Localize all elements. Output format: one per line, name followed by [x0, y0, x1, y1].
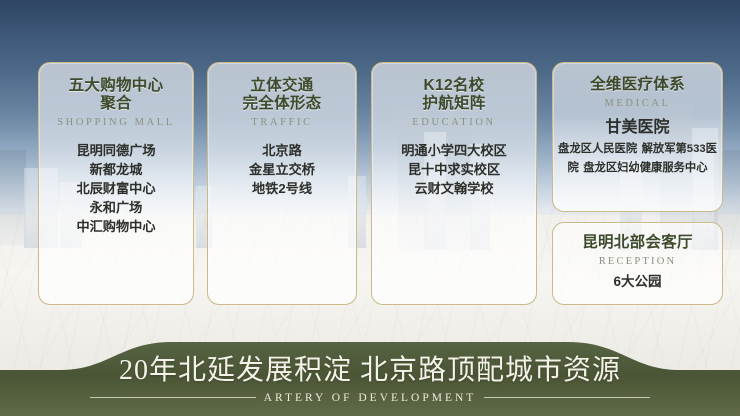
card-subtitle: SHOPPING MALL [39, 117, 193, 128]
card-item-list: 北京路 金星立交桥 地铁2号线 [208, 141, 356, 198]
banner-rule-left [90, 397, 256, 398]
card-reception[interactable]: 昆明北部会客厅 RECEPTION 6大公园 [552, 222, 723, 305]
bottom-banner: 20年北延发展积淀 北京路顶配城市资源 ARTERY OF DEVELOPMEN… [0, 342, 740, 416]
list-item: 盘龙区人民医院 [558, 143, 637, 155]
card-item-list: 明通小学四大校区 昆十中求实校区 云财文翰学校 [372, 141, 536, 198]
list-item: 明通小学四大校区 [372, 141, 536, 160]
card-item-list: 昆明同德广场 新都龙城 北辰财富中心 永和广场 中汇购物中心 [39, 141, 193, 236]
card-subtitle: EDUCATION [372, 117, 536, 128]
list-item: 北京路 [208, 141, 356, 160]
list-item: 地铁2号线 [208, 179, 356, 198]
banner-subtitle: ARTERY OF DEVELOPMENT [264, 392, 477, 404]
poster-canvas: 五大购物中心 聚合 SHOPPING MALL 昆明同德广场 新都龙城 北辰财富… [0, 0, 740, 416]
list-item: 盘龙区妇幼健康服务中心 [583, 162, 707, 174]
card-heading: 五大购物中心 聚合 [39, 77, 193, 113]
list-item: 云财文翰学校 [372, 179, 536, 198]
card-subtitle: RECEPTION [553, 256, 722, 267]
banner-subtitle-row: ARTERY OF DEVELOPMENT [90, 392, 650, 404]
list-item: 昆十中求实校区 [372, 160, 536, 179]
card-subtitle: MEDICAL [553, 98, 722, 109]
card-heading: 全维医疗体系 [553, 76, 722, 94]
list-item: 金星立交桥 [208, 160, 356, 179]
list-item: 永和广场 [39, 198, 193, 217]
banner-content: 20年北延发展积淀 北京路顶配城市资源 ARTERY OF DEVELOPMEN… [0, 342, 740, 416]
banner-rule-right [484, 397, 650, 398]
card-heading: 昆明北部会客厅 [553, 234, 722, 252]
list-item: 中汇购物中心 [39, 217, 193, 236]
card-sub-items: 盘龙区人民医院 解放军第533医院 盘龙区妇幼健康服务中心 [553, 139, 722, 176]
list-item: 新都龙城 [39, 160, 193, 179]
card-education[interactable]: K12名校 护航矩阵 EDUCATION 明通小学四大校区 昆十中求实校区 云财… [371, 62, 537, 305]
card-traffic[interactable]: 立体交通 完全体形态 TRAFFIC 北京路 金星立交桥 地铁2号线 [207, 62, 357, 305]
list-item: 北辰财富中心 [39, 179, 193, 198]
banner-title: 20年北延发展积淀 北京路顶配城市资源 [119, 355, 621, 387]
card-medical[interactable]: 全维医疗体系 MEDICAL 甘美医院 盘龙区人民医院 解放军第533医院 盘龙… [552, 62, 723, 212]
card-shopping-mall[interactable]: 五大购物中心 聚合 SHOPPING MALL 昆明同德广场 新都龙城 北辰财富… [38, 62, 194, 305]
card-heading: K12名校 护航矩阵 [372, 77, 536, 113]
card-item-list: 6大公园 [553, 272, 722, 291]
list-item: 昆明同德广场 [39, 141, 193, 160]
card-lead-item: 甘美医院 [553, 117, 722, 139]
card-item-list: 甘美医院 盘龙区人民医院 解放军第533医院 盘龙区妇幼健康服务中心 [553, 117, 722, 176]
list-item: 6大公园 [553, 272, 722, 291]
card-subtitle: TRAFFIC [208, 117, 356, 128]
card-heading: 立体交通 完全体形态 [208, 77, 356, 113]
